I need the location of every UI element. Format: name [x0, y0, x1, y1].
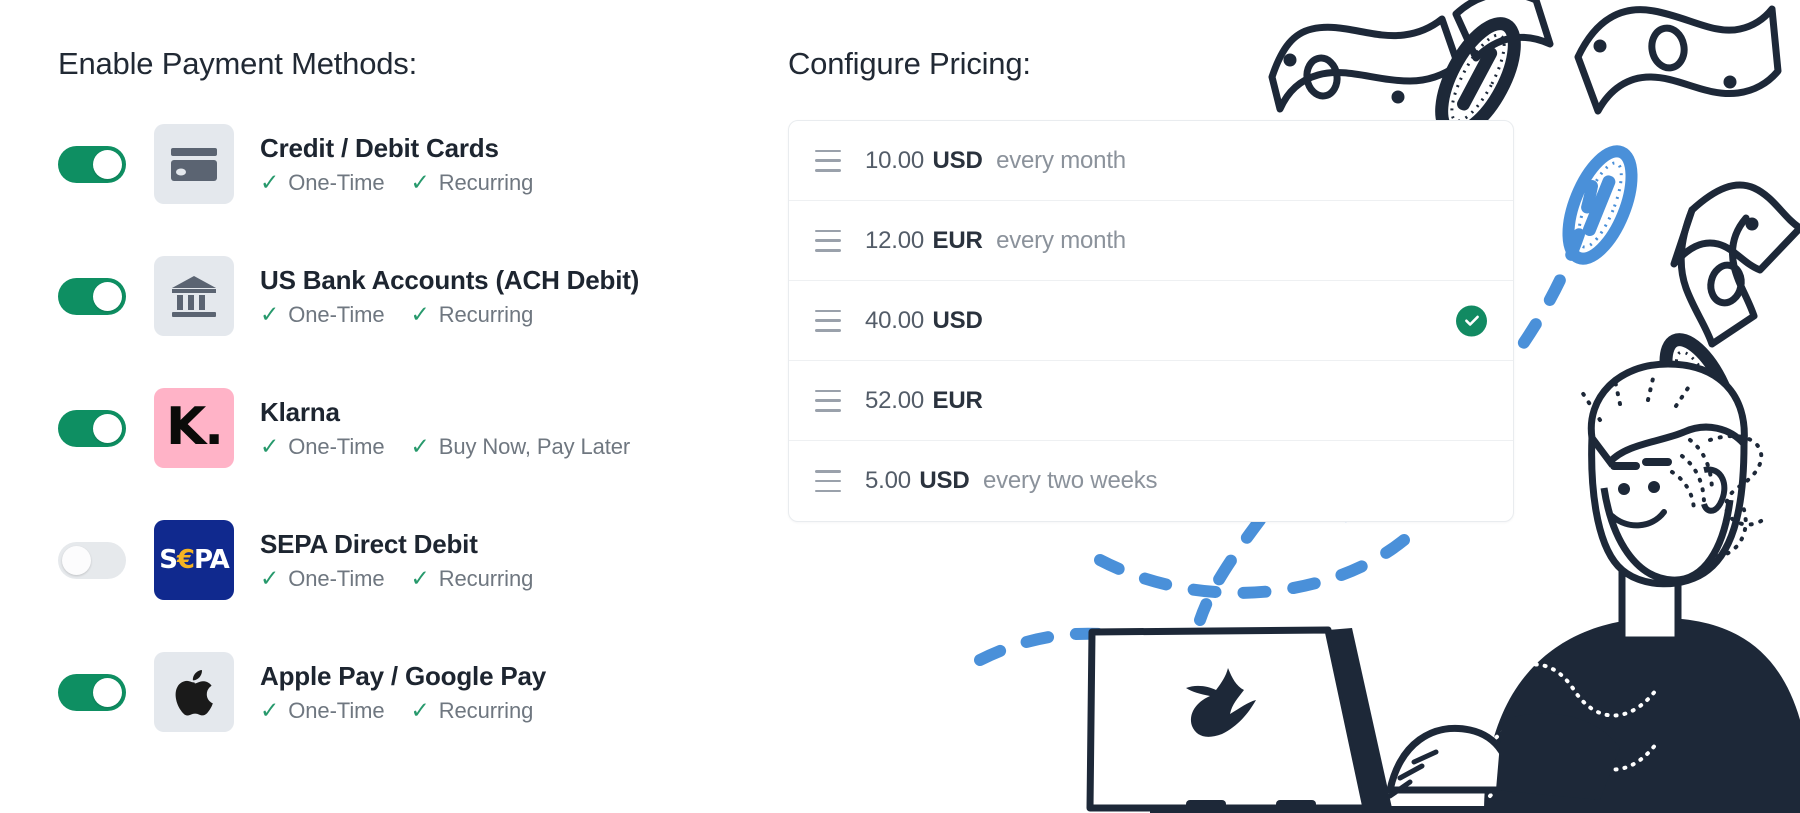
price-currency: USD	[933, 147, 983, 174]
payment-method-capabilities: ✓ One-Time ✓ Recurring	[260, 698, 546, 724]
price-amount: 10.00	[865, 147, 924, 174]
price-currency: USD	[933, 307, 983, 334]
capability: ✓ One-Time	[260, 434, 384, 460]
drag-handle-icon[interactable]	[815, 310, 841, 332]
toggle-klarna[interactable]	[58, 410, 126, 447]
payment-methods-panel: Enable Payment Methods: Credit / Debit C…	[58, 46, 758, 736]
price-amount: 12.00	[865, 227, 924, 254]
payment-method-row-apple-google-pay[interactable]: Apple Pay / Google Pay ✓ One-Time ✓ Recu…	[58, 648, 758, 736]
toggle-apple-google-pay[interactable]	[58, 674, 126, 711]
payment-method-name: Credit / Debit Cards	[260, 132, 533, 165]
price-period: every month	[996, 227, 1126, 254]
check-icon: ✓	[410, 699, 429, 722]
drag-handle-icon[interactable]	[815, 150, 841, 172]
payment-method-row-us-bank-accounts[interactable]: US Bank Accounts (ACH Debit) ✓ One-Time …	[58, 252, 758, 340]
capability: ✓ Recurring	[410, 698, 533, 724]
payment-pricing-screen: Enable Payment Methods: Credit / Debit C…	[0, 0, 1800, 813]
configure-pricing-title: Configure Pricing:	[788, 46, 1518, 82]
capability: ✓ One-Time	[260, 170, 384, 196]
banknote-icon-2	[1578, 9, 1778, 111]
toggle-us-bank-accounts[interactable]	[58, 278, 126, 315]
payment-methods-title: Enable Payment Methods:	[58, 46, 758, 82]
check-icon: ✓	[410, 171, 429, 194]
payment-method-row-klarna[interactable]: K. Klarna ✓ One-Time ✓ Buy Now, Pay Late…	[58, 384, 758, 472]
check-icon: ✓	[260, 171, 279, 194]
check-icon: ✓	[260, 567, 279, 590]
payment-method-row-sepa-direct-debit[interactable]: S€PA SEPA Direct Debit ✓ One-Time ✓ Recu…	[58, 516, 758, 604]
price-amount: 52.00	[865, 387, 924, 414]
price-period: every two weeks	[983, 467, 1157, 494]
sepa-icon: S€PA	[154, 520, 234, 600]
configure-pricing-panel: Configure Pricing: 10.00 USD every month…	[788, 46, 1518, 522]
pricing-row-selected[interactable]: 40.00 USD	[789, 281, 1513, 361]
pricing-row-text: 52.00 EUR	[865, 387, 990, 415]
check-icon: ✓	[410, 435, 429, 458]
apple-icon	[154, 652, 234, 732]
check-icon: ✓	[410, 567, 429, 590]
toggle-knob	[93, 678, 122, 707]
capability-label: One-Time	[288, 302, 384, 328]
pricing-row[interactable]: 12.00 EUR every month	[789, 201, 1513, 281]
payment-method-text: Credit / Debit Cards ✓ One-Time ✓ Recurr…	[260, 132, 533, 196]
toggle-knob	[93, 414, 122, 443]
coin-icon-dark-2	[1652, 330, 1748, 460]
pricing-row[interactable]: 5.00 USD every two weeks	[789, 441, 1513, 521]
pricing-row-text: 10.00 USD every month	[865, 147, 1126, 175]
payment-method-capabilities: ✓ One-Time ✓ Buy Now, Pay Later	[260, 434, 630, 460]
payment-method-text: US Bank Accounts (ACH Debit) ✓ One-Time …	[260, 264, 639, 328]
check-icon: ✓	[410, 303, 429, 326]
price-currency: USD	[919, 467, 969, 494]
coin-icon-blue	[1555, 143, 1644, 267]
bank-icon	[154, 256, 234, 336]
price-amount: 5.00	[865, 467, 911, 494]
banknote-icon-3	[1674, 185, 1800, 344]
price-period: every month	[996, 147, 1126, 174]
capability-label: Recurring	[439, 566, 533, 592]
payment-method-text: Apple Pay / Google Pay ✓ One-Time ✓ Recu…	[260, 660, 546, 724]
drag-handle-icon[interactable]	[815, 390, 841, 412]
capability-label: Recurring	[439, 170, 533, 196]
capability-label: Recurring	[439, 302, 533, 328]
payment-method-name: US Bank Accounts (ACH Debit)	[260, 264, 639, 297]
capability: ✓ One-Time	[260, 302, 384, 328]
sepa-logo-text: S€PA	[154, 547, 234, 573]
payment-method-capabilities: ✓ One-Time ✓ Recurring	[260, 302, 639, 328]
capability: ✓ Recurring	[410, 302, 533, 328]
klarna-icon: K.	[154, 388, 234, 468]
pricing-list: 10.00 USD every month 12.00 EUR every mo…	[788, 120, 1514, 522]
toggle-knob	[62, 546, 91, 575]
pricing-row[interactable]: 10.00 USD every month	[789, 121, 1513, 201]
capability-label: One-Time	[288, 170, 384, 196]
selected-check-badge-icon	[1456, 305, 1487, 336]
pricing-row-text: 5.00 USD every two weeks	[865, 467, 1157, 495]
pricing-row[interactable]: 52.00 EUR	[789, 361, 1513, 441]
capability: ✓ One-Time	[260, 566, 384, 592]
price-currency: EUR	[933, 387, 983, 414]
klarna-logo-text: K.	[166, 401, 222, 453]
payment-method-text: Klarna ✓ One-Time ✓ Buy Now, Pay Later	[260, 396, 630, 460]
toggle-sepa-direct-debit[interactable]	[58, 542, 126, 579]
capability: ✓ One-Time	[260, 698, 384, 724]
price-amount: 40.00	[865, 307, 924, 334]
pricing-row-text: 40.00 USD	[865, 307, 990, 335]
payment-method-name: Apple Pay / Google Pay	[260, 660, 546, 693]
capability: ✓ Buy Now, Pay Later	[410, 434, 630, 460]
toggle-knob	[93, 150, 122, 179]
payment-method-capabilities: ✓ One-Time ✓ Recurring	[260, 566, 533, 592]
capability-label: One-Time	[288, 434, 384, 460]
payment-method-name: Klarna	[260, 396, 630, 429]
check-icon: ✓	[260, 435, 279, 458]
toggle-credit-debit-cards[interactable]	[58, 146, 126, 183]
payment-method-name: SEPA Direct Debit	[260, 528, 533, 561]
payment-method-text: SEPA Direct Debit ✓ One-Time ✓ Recurring	[260, 528, 533, 592]
payment-method-capabilities: ✓ One-Time ✓ Recurring	[260, 170, 533, 196]
capability-label: Recurring	[439, 698, 533, 724]
capability: ✓ Recurring	[410, 170, 533, 196]
check-icon: ✓	[260, 699, 279, 722]
capability: ✓ Recurring	[410, 566, 533, 592]
toggle-knob	[93, 282, 122, 311]
capability-label: One-Time	[288, 698, 384, 724]
capability-label: One-Time	[288, 566, 384, 592]
capability-label: Buy Now, Pay Later	[439, 434, 630, 460]
drag-handle-icon[interactable]	[815, 470, 841, 492]
check-icon: ✓	[260, 303, 279, 326]
payment-method-row-credit-debit-cards[interactable]: Credit / Debit Cards ✓ One-Time ✓ Recurr…	[58, 120, 758, 208]
price-currency: EUR	[933, 227, 983, 254]
pricing-row-text: 12.00 EUR every month	[865, 227, 1126, 255]
credit-card-icon	[154, 124, 234, 204]
drag-handle-icon[interactable]	[815, 230, 841, 252]
